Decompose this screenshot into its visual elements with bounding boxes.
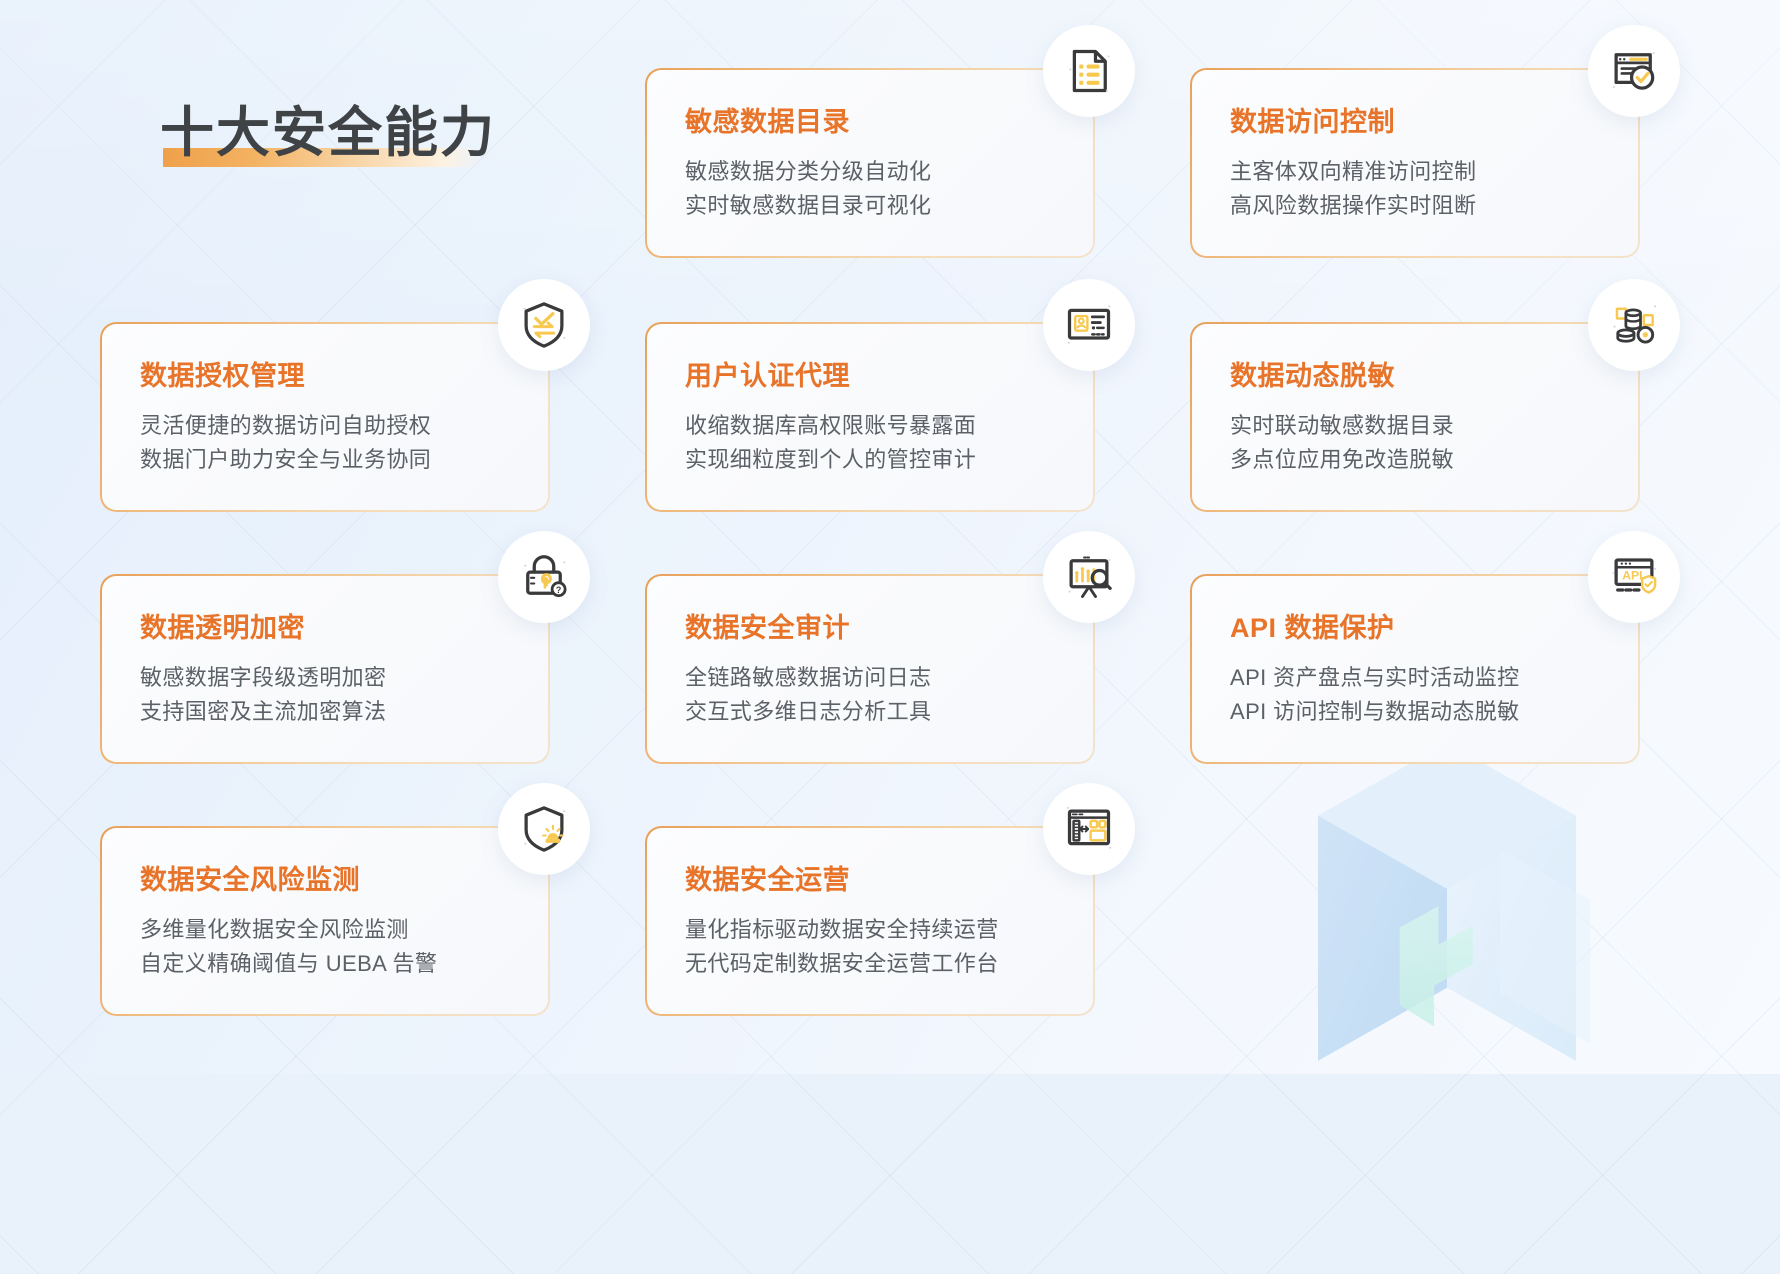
card-line-2: 数据门户助力安全与业务协同 <box>140 443 510 477</box>
capability-icon-bubble-data-security-audit <box>1043 531 1135 623</box>
capability-card-dynamic-data-masking[interactable]: 数据动态脱敏 实时联动敏感数据目录 多点位应用免改造脱敏 <box>1190 322 1640 512</box>
id-card-icon <box>1063 299 1115 351</box>
card-line-2: 实时敏感数据目录可视化 <box>685 189 1055 223</box>
card-line-2: 实现细粒度到个人的管控审计 <box>685 443 1055 477</box>
lock-key-icon: ? <box>518 551 570 603</box>
card-line-1: 敏感数据分类分级自动化 <box>685 155 1055 189</box>
svg-text:API: API <box>1622 568 1642 582</box>
capability-card-data-security-risk-monitoring[interactable]: 数据安全风险监测 多维量化数据安全风险监测 自定义精确阈值与 UEBA 告警 <box>100 826 550 1016</box>
window-check-icon <box>1608 45 1660 97</box>
card-line-2: 支持国密及主流加密算法 <box>140 695 510 729</box>
card-line-1: 主客体双向精准访问控制 <box>1230 155 1600 189</box>
card-title: API 数据保护 <box>1230 612 1600 644</box>
capability-icon-bubble-transparent-data-encryption: ? <box>498 531 590 623</box>
capability-card-data-security-operations[interactable]: 数据安全运营 量化指标驱动数据安全持续运营 无代码定制数据安全运营工作台 <box>645 826 1095 1016</box>
capabilities-page: 十大安全能力 敏感数据目录 敏感数据分类分级自动化 实时敏感数据目录可视化 数据… <box>0 0 1780 1074</box>
shield-alarm-icon <box>518 803 570 855</box>
capability-card-data-access-control[interactable]: 数据访问控制 主客体双向精准访问控制 高风险数据操作实时阻断 <box>1190 68 1640 258</box>
capability-card-user-authentication-proxy[interactable]: 用户认证代理 收缩数据库高权限账号暴露面 实现细粒度到个人的管控审计 <box>645 322 1095 512</box>
card-title: 数据安全风险监测 <box>140 864 510 896</box>
capability-icon-bubble-api-data-protection: API <box>1588 531 1680 623</box>
capability-icon-bubble-data-access-control <box>1588 25 1680 117</box>
card-line-1: 量化指标驱动数据安全持续运营 <box>685 913 1055 947</box>
capability-icon-bubble-sensitive-data-catalog <box>1043 25 1135 117</box>
card-line-2: 高风险数据操作实时阻断 <box>1230 189 1600 223</box>
dashboard-workbench-icon <box>1063 803 1115 855</box>
card-title: 数据动态脱敏 <box>1230 360 1600 392</box>
capability-icon-bubble-data-security-operations <box>1043 783 1135 875</box>
capability-icon-bubble-data-authorization-management <box>498 279 590 371</box>
card-line-1: 多维量化数据安全风险监测 <box>140 913 510 947</box>
card-line-1: API 资产盘点与实时活动监控 <box>1230 661 1600 695</box>
page-title: 十大安全能力 <box>160 104 496 163</box>
card-line-1: 收缩数据库高权限账号暴露面 <box>685 409 1055 443</box>
card-title: 数据透明加密 <box>140 612 510 644</box>
card-line-2: 自定义精确阈值与 UEBA 告警 <box>140 947 510 981</box>
card-line-2: API 访问控制与数据动态脱敏 <box>1230 695 1600 729</box>
capability-icon-bubble-user-authentication-proxy <box>1043 279 1135 371</box>
card-line-1: 灵活便捷的数据访问自助授权 <box>140 409 510 443</box>
card-title: 敏感数据目录 <box>685 106 1055 138</box>
capability-card-data-authorization-management[interactable]: 数据授权管理 灵活便捷的数据访问自助授权 数据门户助力安全与业务协同 <box>100 322 550 512</box>
shield-exchange-icon <box>518 299 570 351</box>
api-shield-icon: API <box>1608 551 1660 603</box>
card-title: 用户认证代理 <box>685 360 1055 392</box>
capability-card-sensitive-data-catalog[interactable]: 敏感数据目录 敏感数据分类分级自动化 实时敏感数据目录可视化 <box>645 68 1095 258</box>
card-line-1: 全链路敏感数据访问日志 <box>685 661 1055 695</box>
page-title-block: 十大安全能力 <box>160 104 580 163</box>
card-title: 数据安全运营 <box>685 864 1055 896</box>
capability-card-transparent-data-encryption[interactable]: 数据透明加密 敏感数据字段级透明加密 支持国密及主流加密算法 <box>100 574 550 764</box>
card-title: 数据访问控制 <box>1230 106 1600 138</box>
card-line-1: 实时联动敏感数据目录 <box>1230 409 1600 443</box>
capability-card-data-security-audit[interactable]: 数据安全审计 全链路敏感数据访问日志 交互式多维日志分析工具 <box>645 574 1095 764</box>
capability-icon-bubble-data-security-risk-monitoring <box>498 783 590 875</box>
card-line-2: 无代码定制数据安全运营工作台 <box>685 947 1055 981</box>
card-title: 数据安全审计 <box>685 612 1055 644</box>
card-line-2: 多点位应用免改造脱敏 <box>1230 443 1600 477</box>
capability-icon-bubble-dynamic-data-masking <box>1588 279 1680 371</box>
svg-text:?: ? <box>556 585 561 595</box>
chart-board-search-icon <box>1063 551 1115 603</box>
card-title: 数据授权管理 <box>140 360 510 392</box>
coin-stack-icon <box>1608 299 1660 351</box>
card-line-2: 交互式多维日志分析工具 <box>685 695 1055 729</box>
card-line-1: 敏感数据字段级透明加密 <box>140 661 510 695</box>
document-list-icon <box>1063 45 1115 97</box>
capability-card-api-data-protection[interactable]: API 数据保护 API 资产盘点与实时活动监控 API 访问控制与数据动态脱敏 <box>1190 574 1640 764</box>
